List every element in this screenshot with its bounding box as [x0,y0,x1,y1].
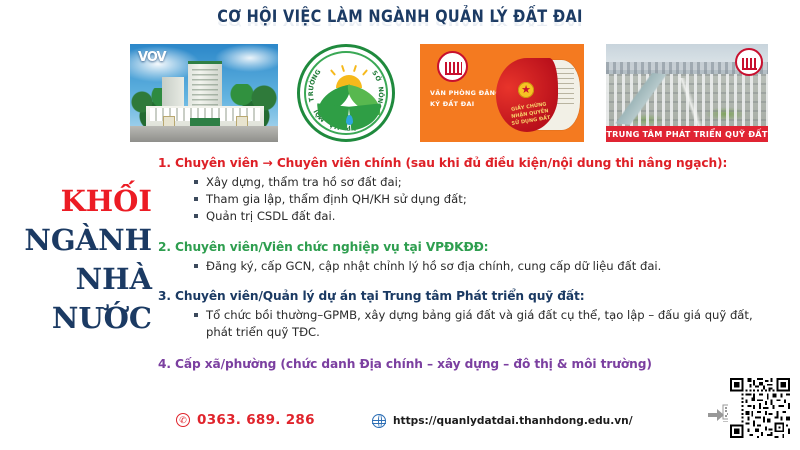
department-of-agriculture-environment-logo: SỞ NÔNG NGHIỆP VÀ MÔI TRƯỜNG [292,41,402,145]
vov-watermark: VOV [138,50,166,65]
logo-circle: SỞ NÔNG NGHIỆP VÀ MÔI TRƯỜNG [297,44,395,142]
logo-ring-char: P [346,124,351,132]
logo-ring-char: S [370,69,379,77]
logo-ring-char: R [307,91,315,96]
logo-ring-char: G [364,115,373,124]
headline-line-nganh: NGÀNH [14,221,152,260]
section-1: 1. Chuyên viên → Chuyên viên chính (sau … [158,155,778,225]
logo-ring-char: V [334,122,341,131]
section-2-bullets: Đăng ký, cấp GCN, cập nhật chỉnh lý hồ s… [158,258,778,275]
slide-canvas: CƠ HỘI VIỆC LÀM NGÀNH QUẢN LÝ ĐẤT ĐAI CƠ… [0,0,800,450]
sun-ray-icon [353,65,357,72]
website-url: https://quanlydatdai.thanhdong.edu.vn/ [393,415,633,427]
logo-ring-char: T [307,97,316,103]
highway [628,78,758,126]
logo-ring-char: Ô [377,92,385,98]
list-item: Xây dựng, thẩm tra hồ sơ đất đai; [158,174,778,191]
logo-ring-char: Ư [307,85,316,91]
sun-ray-icon [330,69,336,76]
side-building [162,77,184,107]
logo-ring-char: M [317,113,327,123]
logo-ring-char: H [360,118,369,128]
logo-ring-char: G [313,68,323,77]
logo-ring-text: SỞ NÔNG NGHIỆP VÀ MÔI TRƯỜNG [300,47,392,139]
qr-code[interactable] [728,376,792,440]
logo-ring-char: G [374,102,383,110]
certificate-fan: GIẤY CHỨNG NHẬN QUYỀN SỬ DỤNG ĐẤT [496,58,580,134]
section-3-bullets: Tổ chức bồi thường–GPMB, xây dựng bảng g… [158,307,778,340]
headline-line-khoi: KHỐI [14,182,152,221]
list-item: Tham gia lập, thẩm định QH/KH sử dụng đấ… [158,191,778,208]
logo-ring-char: I [312,108,320,114]
government-building-photo: VOV [130,44,278,142]
logo-ring-char: Ệ [351,123,357,132]
sun-ray-icon [362,69,368,76]
logo-ring-char: N [376,97,385,104]
list-item: Đăng ký, cấp GCN, cập nhật chỉnh lý hồ s… [158,258,778,275]
logo-ring-char [309,104,317,109]
website-contact[interactable]: https://quanlydatdai.thanhdong.edu.vn/ [372,414,633,428]
logo-ring-char: N [310,73,320,81]
main-tower [188,61,222,112]
road [130,126,278,142]
logo-ring-char [373,107,381,113]
list-item: Tổ chức bồi thường–GPMB, xây dựng bảng g… [158,307,778,340]
hand-left-icon [315,103,349,130]
phone-number: 0363. 689. 286 [197,412,315,428]
section-1-bullets: Xây dựng, thẩm tra hồ sơ đất đai; Tham g… [158,174,778,225]
headline-line-nuoc: NƯỚC [14,299,152,338]
list-item: Quản trị CSDL đất đai. [158,208,778,225]
national-emblem-icon [518,82,534,98]
center-seal-icon [735,48,763,76]
section-4: 4. Cấp xã/phường (chức danh Địa chính – … [158,356,778,373]
section-3: 3. Chuyên viên/Quản lý dự án tại Trung t… [158,288,778,340]
logo-ring-char: Ở [373,74,383,83]
sun-ray-icon [341,65,345,72]
page-title: CƠ HỘI VIỆC LÀM NGÀNH QUẢN LÝ ĐẤT ĐAI CƠ… [0,8,800,42]
section-2-heading: 2. Chuyên viên/Viên chức nghiệp vụ tại V… [158,239,778,256]
water-drop-icon [346,115,353,125]
logo-ring-char: Ô [314,110,324,119]
office-seal-icon [437,51,468,82]
land-registration-office-banner: VĂN PHÒNG ĐĂNG KÝ ĐẤT ĐAI GIẤY CHỨNG NHẬ… [420,44,584,142]
section-4-heading: 4. Cấp xã/phường (chức danh Địa chính – … [158,356,778,373]
logo-ring-char: N [368,111,378,120]
logo-ring-char [375,80,383,84]
qr-section [706,376,792,442]
sun-icon [336,75,362,88]
image-strip: VOV SỞ NÔNG NGHIỆP VÀ MÔI TRƯỜNG VĂN PHÒ… [0,41,800,145]
section-3-heading: 3. Chuyên viên/Quản lý dự án tại Trung t… [158,288,778,305]
logo-ring-char [343,124,346,132]
phone-contact[interactable]: 0363. 689. 286 [176,412,315,428]
globe-icon [372,414,386,428]
logo-ring-char: Ờ [308,78,317,86]
content-list: 1. Chuyên viên → Chuyên viên chính (sau … [158,155,778,375]
phone-icon [176,413,190,427]
leaf-right-icon [344,85,383,116]
leaf-left-icon [314,85,353,116]
contact-footer: 0363. 689. 286 https://quanlydatdai.than… [176,412,676,438]
land-development-center-photo: TRUNG TÂM PHÁT TRIỂN QUỸ ĐẤT [606,44,768,142]
land-development-center-caption: TRUNG TÂM PHÁT TRIỂN QUỸ ĐẤT [606,126,768,142]
logo-ring-char: N [377,86,386,92]
left-headline: KHỐI NGÀNH NHÀ NƯỚC [14,182,152,338]
page-title-reflection: CƠ HỘI VIỆC LÀM NGÀNH QUẢN LÝ ĐẤT ĐAI [48,17,752,27]
headline-line-nha: NHÀ [14,260,152,299]
section-1-heading: 1. Chuyên viên → Chuyên viên chính (sau … [158,155,778,172]
section-2: 2. Chuyên viên/Viên chức nghiệp vụ tại V… [158,239,778,275]
logo-ring-char: I [358,121,363,129]
logo-ring-char: À [328,120,336,129]
logo-ring-char [325,119,331,127]
